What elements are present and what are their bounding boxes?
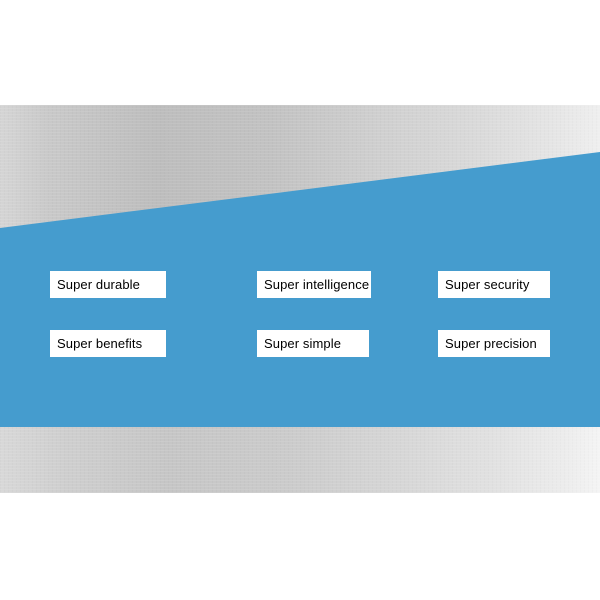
feature-label-super-simple[interactable]: Super simple (257, 330, 369, 357)
feature-label-super-precision[interactable]: Super precision (438, 330, 550, 357)
background-grey-band-lower (0, 427, 600, 493)
feature-label-super-benefits[interactable]: Super benefits (50, 330, 166, 357)
feature-label-super-intelligence[interactable]: Super intelligence (257, 271, 371, 298)
slide-canvas: Super durable Super intelligence Super s… (0, 0, 600, 600)
feature-label-super-security[interactable]: Super security (438, 271, 550, 298)
feature-label-super-durable[interactable]: Super durable (50, 271, 166, 298)
